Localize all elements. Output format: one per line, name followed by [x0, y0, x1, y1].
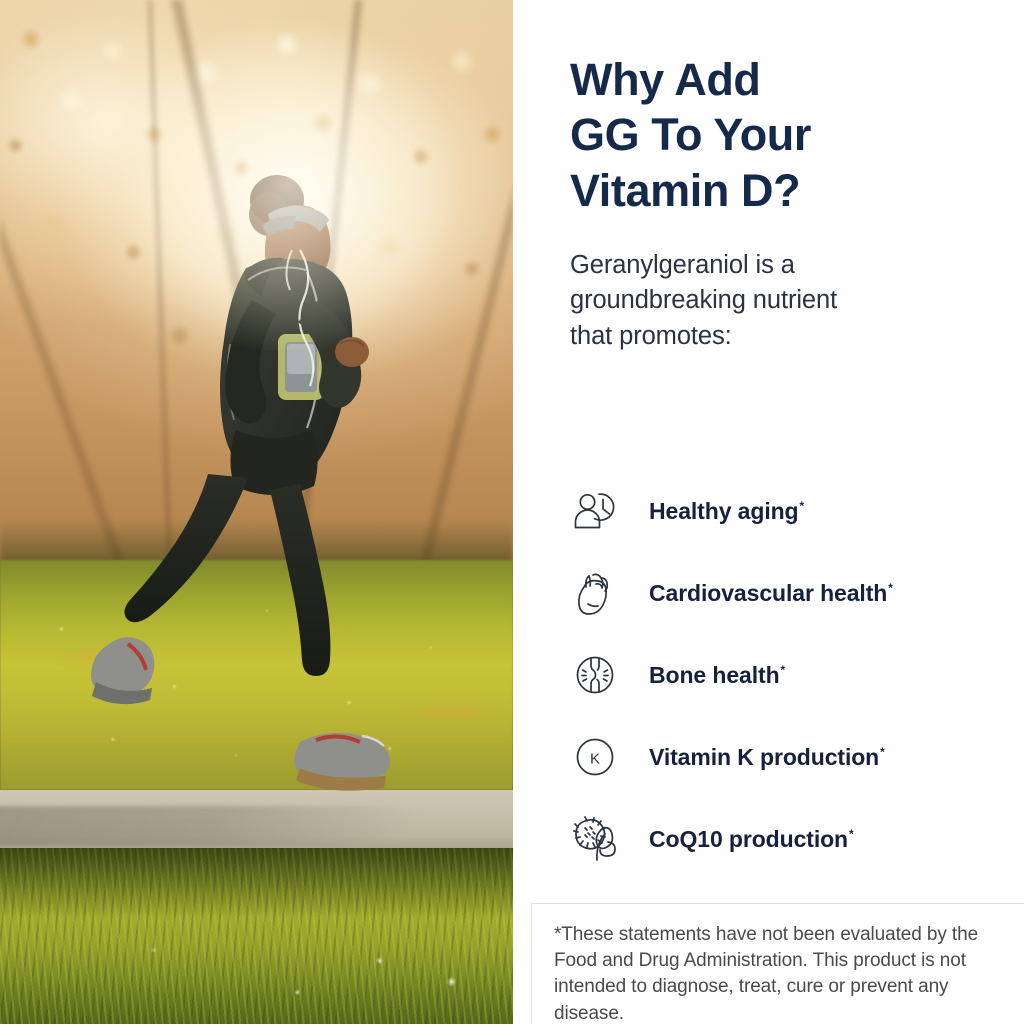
svg-text:K: K [590, 751, 600, 768]
runner-figure [0, 0, 513, 1024]
list-item-label: Cardiovascular health* [649, 580, 893, 607]
footnote-marker: * [849, 827, 854, 841]
page-subtitle: Geranylgeraniol is a groundbreaking nutr… [570, 248, 970, 354]
person-clock-icon [563, 482, 627, 540]
benefits-list: Healthy aging* Card [563, 470, 1003, 880]
page-title: Why Add GG To Your Vitamin D? [570, 52, 990, 218]
footnote-marker: * [781, 663, 786, 677]
list-item-label: Bone health* [649, 662, 785, 689]
plant-leaf-icon [563, 810, 627, 868]
footnote-marker: * [800, 499, 805, 513]
disclaimer-box: *These statements have not been evaluate… [531, 903, 1024, 1024]
footnote-marker: * [880, 745, 885, 759]
list-item: Bone health* [563, 634, 1003, 716]
list-item: K Vitamin K production* [563, 716, 1003, 798]
bone-joint-icon [563, 646, 627, 704]
disclaimer-text: *These statements have not been evaluate… [554, 922, 1002, 1027]
hero-photo [0, 0, 513, 1024]
list-item-label: Vitamin K production* [649, 744, 885, 771]
promo-poster: Why Add GG To Your Vitamin D? Geranylger… [0, 0, 1024, 1024]
list-item: Cardiovascular health* [563, 552, 1003, 634]
footnote-marker: * [888, 581, 893, 595]
list-item-label: CoQ10 production* [649, 826, 854, 853]
content-panel: Why Add GG To Your Vitamin D? Geranylger… [513, 0, 1024, 1024]
heart-anatomical-icon [563, 564, 627, 622]
vitamin-k-circle-icon: K [563, 728, 627, 786]
list-item: CoQ10 production* [563, 798, 1003, 880]
list-item-label: Healthy aging* [649, 498, 804, 525]
list-item: Healthy aging* [563, 470, 1003, 552]
